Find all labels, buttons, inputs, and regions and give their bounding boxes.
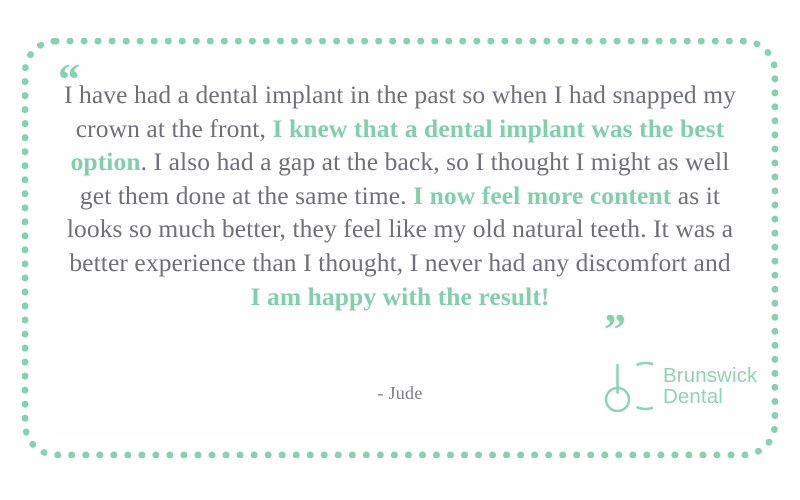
quote-highlight: I am happy with the result! bbox=[250, 282, 549, 311]
logo-wordmark: Brunswick Dental bbox=[663, 365, 757, 407]
logo-line-1: Brunswick bbox=[663, 365, 757, 386]
closing-quote-icon: ” bbox=[604, 308, 626, 352]
quote-text: I have had a dental implant in the past … bbox=[62, 78, 738, 313]
logo-line-2: Dental bbox=[663, 386, 757, 407]
testimonial-card: “ I have had a dental implant in the pas… bbox=[0, 0, 800, 500]
quote-highlight: I now feel more content bbox=[413, 181, 671, 210]
brunswick-dental-logo: Brunswick Dental bbox=[601, 358, 757, 414]
brunswick-b-monogram-icon bbox=[601, 358, 653, 414]
